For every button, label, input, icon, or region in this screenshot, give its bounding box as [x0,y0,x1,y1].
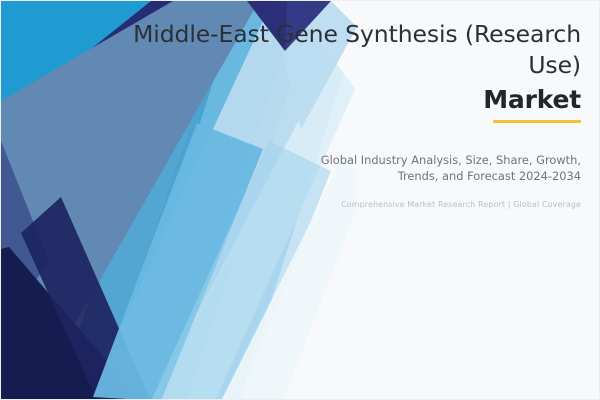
page-title: Middle-East Gene Synthesis (Research Use… [109,19,581,81]
title-block: Middle-East Gene Synthesis (Research Use… [109,19,581,81]
accent-underline [493,120,581,123]
tagline-block: Comprehensive Market Research Report | G… [161,199,581,211]
emphasis-word: Market [483,85,581,115]
report-subtitle: Global Industry Analysis, Size, Share, G… [161,153,581,184]
emphasis-block: Market [109,85,581,123]
subtitle-block: Global Industry Analysis, Size, Share, G… [161,153,581,184]
report-cover: Middle-East Gene Synthesis (Research Use… [0,0,600,400]
cover-text-layer: Middle-East Gene Synthesis (Research Use… [1,1,600,400]
report-tagline: Comprehensive Market Research Report | G… [161,199,581,211]
